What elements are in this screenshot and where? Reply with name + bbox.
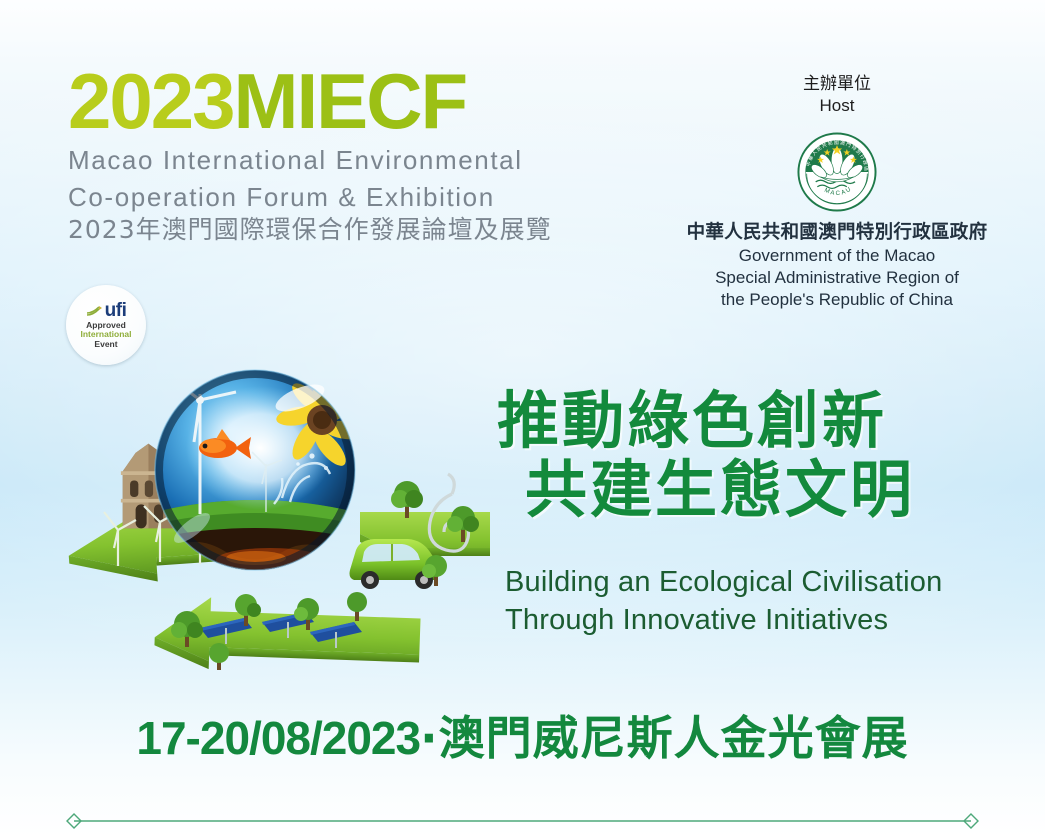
slogan-chinese-line1: 推動綠色創新 — [497, 386, 967, 455]
logo-subtitle-chinese: 2023年澳門國際環保合作發展論壇及展覽 — [68, 215, 552, 245]
ufi-line-event: Event — [94, 340, 117, 349]
ufi-swoosh-icon — [86, 305, 103, 316]
slogan-block: 推動綠色創新 共建生態文明 — [497, 386, 967, 525]
slogan-english-line2: Through Innovative Initiatives — [505, 601, 1005, 639]
host-label-english: Host — [672, 95, 1002, 117]
host-block: 主辦單位 Host — [672, 74, 1002, 311]
logo-year: 2023 — [68, 57, 234, 145]
date-venue-separator: · — [420, 711, 438, 765]
event-venue: 澳門威尼斯人金光會展 — [439, 711, 909, 765]
rule-svg — [62, 812, 983, 830]
bottom-decorative-rule — [62, 812, 983, 830]
host-org-english-line3: the People's Republic of China — [672, 289, 1002, 311]
slogan-english-line1: Building an Ecological Civilisation — [505, 563, 1005, 601]
ufi-wordmark: ufi — [105, 301, 127, 320]
macao-sar-emblem-icon: MACAU 中華人民共和國澳門特別行政區 — [796, 131, 878, 213]
host-org-english-line1: Government of the Macao — [672, 245, 1002, 267]
logo-subtitle-line2: Co-operation Forum & Exhibition — [68, 183, 552, 212]
logo-title: 2023MIECF — [68, 66, 552, 138]
slogan-chinese-line2: 共建生態文明 — [525, 455, 967, 524]
host-label-chinese: 主辦單位 — [672, 74, 1002, 95]
illustration-svg — [60, 352, 530, 682]
slogan-english-block: Building an Ecological Civilisation Thro… — [505, 563, 1005, 640]
event-logo: 2023MIECF Macao International Environmen… — [68, 66, 552, 245]
host-org-chinese: 中華人民共和國澳門特別行政區政府 — [672, 221, 1002, 245]
event-dates: 17-20/08/2023 — [136, 712, 420, 764]
miecf-poster: 2023MIECF Macao International Environmen… — [0, 0, 1045, 837]
host-org-english-line2: Special Administrative Region of — [672, 267, 1002, 289]
green-eco-globe-illustration — [60, 352, 530, 682]
ufi-logo-row: ufi — [86, 301, 127, 320]
logo-subtitle-line1: Macao International Environmental — [68, 146, 552, 175]
glass-sphere — [155, 370, 369, 574]
logo-mark: MIECF — [234, 57, 467, 145]
date-venue-bar: 17-20/08/2023·澳門威尼斯人金光會展 — [0, 702, 1045, 768]
